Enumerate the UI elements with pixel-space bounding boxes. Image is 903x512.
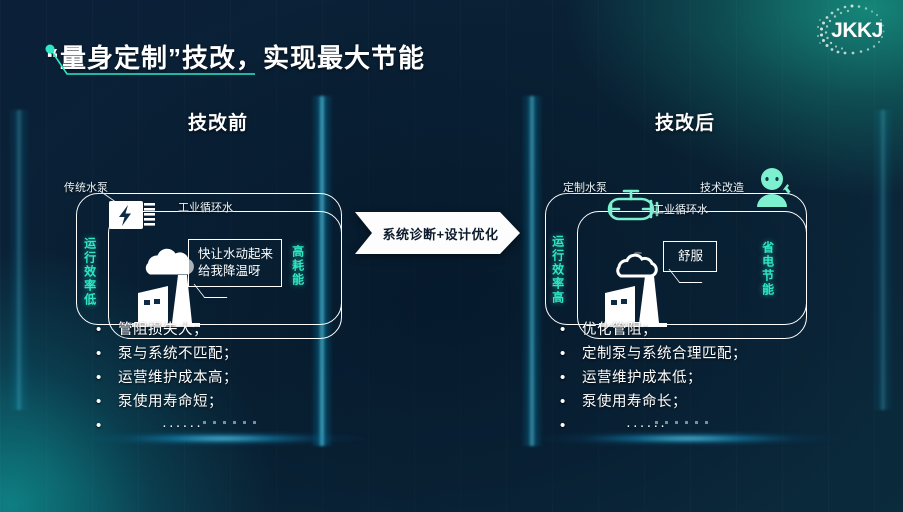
panel-before-title: 技改前 (68, 108, 368, 135)
list-item: •管阻损失大； (96, 318, 396, 342)
worker-label-after: 技术改造 (700, 179, 744, 195)
energy-label-after: 省电节能 (761, 241, 774, 297)
bullet-text: 泵使用寿命长； (582, 390, 860, 414)
list-item: •······ (96, 414, 396, 438)
bullet-text: ······ (582, 414, 860, 438)
electric-pump-icon (105, 195, 167, 235)
page-title: “量身定制”技改，实现最大节能 (46, 38, 425, 75)
pipe-label-after: 工业循环水 (653, 201, 708, 217)
bullet-dot: • (560, 366, 582, 390)
list-item: •泵与系统不匹配； (96, 342, 396, 366)
bullet-dot: • (96, 390, 118, 414)
light-beam-left-edge (8, 110, 30, 410)
bullet-text: 优化管阻； (582, 318, 860, 342)
panel-before-diagram: 传统水泵 工业循环水 运行效率低 高耗能 (68, 149, 368, 339)
panel-after-title: 技改后 (535, 108, 835, 135)
panel-before: 技改前 传统水泵 (68, 108, 368, 339)
list-item: •泵使用寿命长； (560, 390, 860, 414)
bullet-dot: • (96, 414, 118, 438)
bullet-dot: • (560, 342, 582, 366)
logo-swirl-icon: JKKJ (809, 2, 895, 58)
pipe-label-before: 工业循环水 (178, 199, 233, 215)
panel-after: 技改后 定制水泵 工业循环水 (535, 108, 835, 339)
bullet-text: 定制泵与系统合理匹配； (582, 342, 860, 366)
list-item: •泵使用寿命短； (96, 390, 396, 414)
bullet-dot: • (96, 366, 118, 390)
list-item: •运营维护成本高； (96, 366, 396, 390)
bullet-text: ······ (118, 414, 396, 438)
bullet-list-before: •管阻损失大； •泵与系统不匹配； •运营维护成本高； •泵使用寿命短； •··… (96, 318, 396, 438)
technician-worker-icon (753, 167, 797, 209)
bullet-list-after: •优化管阻； •定制泵与系统合理匹配； •运营维护成本低； •泵使用寿命长； •… (560, 318, 860, 438)
panel-after-diagram: 定制水泵 工业循环水 技术改造 (535, 149, 835, 339)
bullet-text: 运营维护成本低； (582, 366, 860, 390)
transformation-arrow-banner: 系统诊断+设计优化 (355, 212, 520, 254)
efficiency-label-before: 运行效率低 (83, 237, 96, 307)
transformation-arrow-label: 系统诊断+设计优化 (355, 212, 520, 254)
bullet-dot: • (560, 318, 582, 342)
logo-wordmark: JKKJ (831, 19, 883, 42)
slide-canvas: JKKJ “量身定制”技改，实现最大节能 技改前 传统水泵 (0, 0, 903, 512)
brand-logo: JKKJ (809, 2, 895, 58)
speech-bubble-after: 舒服 (663, 241, 717, 272)
page-title-text: “量身定制”技改，实现最大节能 (46, 38, 425, 75)
energy-label-before: 高耗能 (291, 245, 304, 287)
list-item: •运营维护成本低； (560, 366, 860, 390)
bullet-dot: • (560, 414, 582, 438)
bullet-text: 运营维护成本高； (118, 366, 396, 390)
bullet-text: 管阻损失大； (118, 318, 396, 342)
pump-label-after: 定制水泵 (563, 179, 607, 195)
bullet-dot: • (96, 318, 118, 342)
bullet-text: 泵与系统不匹配； (118, 342, 396, 366)
bullet-dot: • (96, 342, 118, 366)
light-beam-right-edge (872, 110, 894, 410)
efficiency-label-after: 运行效率高 (551, 235, 564, 305)
bullet-text: 泵使用寿命短； (118, 390, 396, 414)
speech-bubble-before: 快让水动起来 给我降温呀 (188, 239, 282, 287)
bullet-dot: • (560, 390, 582, 414)
list-item: •优化管阻； (560, 318, 860, 342)
list-item: •定制泵与系统合理匹配； (560, 342, 860, 366)
list-item: •······ (560, 414, 860, 438)
